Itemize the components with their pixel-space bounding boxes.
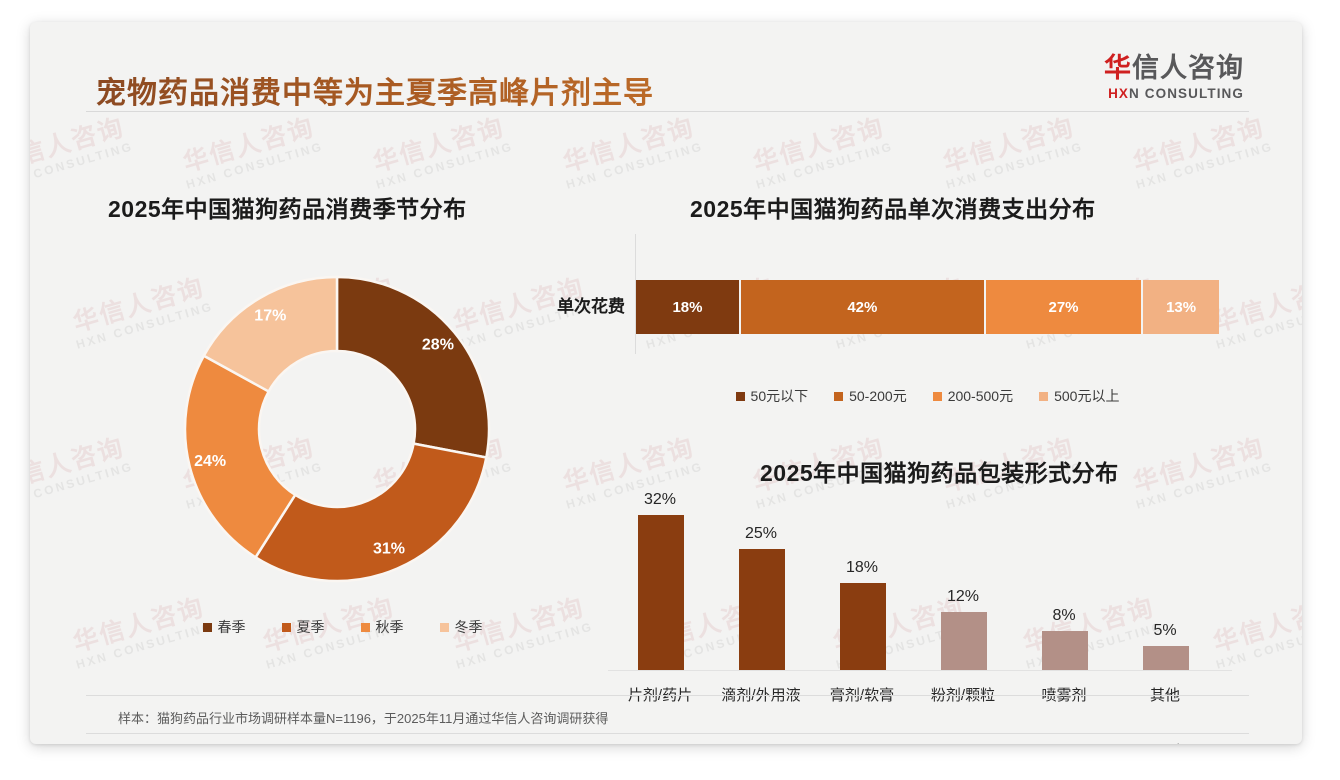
package-form-chart: 32%片剂/药片25%滴剂/外用液18%膏剂/软膏12%粉剂/颗粒8%喷雾剂5%… — [590, 432, 1250, 717]
bar-column: 12%粉剂/颗粒 — [913, 500, 1013, 670]
bar-rect[interactable] — [840, 583, 886, 670]
donut-slice-label: 17% — [254, 307, 286, 324]
footnote-divider — [86, 695, 1249, 696]
bar-value-label: 32% — [610, 491, 710, 509]
legend-swatch-icon — [834, 392, 843, 401]
legend-swatch-icon — [203, 623, 212, 632]
slide-header: 宠物药品消费中等为主夏季高峰片剂主导 华信人咨询 HXN CONSULTING — [30, 22, 1302, 115]
company-logo: 华信人咨询 HXN CONSULTING — [1104, 54, 1244, 101]
package-bar-baseline — [608, 670, 1232, 671]
logo-english-accent: HX — [1108, 86, 1129, 101]
slide-card: 华信人咨询HXN CONSULTING华信人咨询HXN CONSULTING华信… — [30, 22, 1302, 744]
stacked-bar-segment[interactable]: 18% — [636, 280, 741, 334]
donut-legend-item[interactable]: 冬季 — [440, 617, 483, 637]
donut-legend-item[interactable]: 夏季 — [282, 617, 325, 637]
bar-value-label: 5% — [1115, 622, 1215, 640]
stacked-bar-segment-label: 42% — [847, 299, 877, 316]
stacked-bar-legend-item[interactable]: 50元以下 — [736, 386, 809, 406]
spend-stacked-chart: 单次花费 18%42%27%13% 50元以下50-200元200-500元50… — [610, 162, 1250, 412]
donut-slice[interactable] — [256, 444, 487, 581]
bar-column: 32%片剂/药片 — [610, 500, 710, 670]
legend-swatch-icon — [736, 392, 745, 401]
bar-rect[interactable] — [941, 612, 987, 670]
donut-slice-label: 24% — [194, 453, 226, 470]
legend-swatch-icon — [440, 623, 449, 632]
bar-column: 5%其他 — [1115, 500, 1215, 670]
bar-rect[interactable] — [1042, 631, 1088, 670]
season-donut-chart: 28%31%24%17% 春季夏季秋季冬季 — [85, 162, 600, 662]
donut-slice-label: 31% — [373, 540, 405, 557]
donut-legend-label: 冬季 — [455, 617, 483, 637]
donut-legend-item[interactable]: 春季 — [203, 617, 246, 637]
footer-copyright: ©2026.1 HXR华信人咨询 — [86, 741, 231, 744]
stacked-bar-row-label: 单次花费 — [525, 292, 625, 317]
logo-chinese-rest: 信人咨询 — [1132, 53, 1244, 83]
stacked-bar-segment[interactable]: 42% — [741, 280, 986, 334]
header-divider — [86, 111, 1249, 112]
donut-legend-label: 秋季 — [376, 617, 404, 637]
stacked-bar-segment-label: 13% — [1166, 299, 1196, 316]
bar-rect[interactable] — [1143, 646, 1189, 670]
logo-chinese: 华信人咨询 — [1104, 54, 1244, 84]
donut-slice[interactable] — [337, 277, 489, 457]
donut-legend-label: 春季 — [218, 617, 246, 637]
bar-column: 8%喷雾剂 — [1014, 500, 1114, 670]
bar-rect[interactable] — [638, 515, 684, 670]
footer-website: www.hxrcon.com — [1146, 741, 1244, 744]
stacked-bar-segment[interactable]: 13% — [1143, 280, 1219, 334]
donut-legend-label: 夏季 — [297, 617, 325, 637]
package-bar-plot: 32%片剂/药片25%滴剂/外用液18%膏剂/软膏12%粉剂/颗粒8%喷雾剂5%… — [610, 500, 1230, 670]
stacked-bar-legend-label: 500元以上 — [1054, 386, 1119, 406]
donut-legend: 春季夏季秋季冬季 — [85, 617, 600, 637]
page-title: 宠物药品消费中等为主夏季高峰片剂主导 — [96, 68, 654, 112]
legend-swatch-icon — [1039, 392, 1048, 401]
slide-content: 2025年中国猫狗药品消费季节分布 28%31%24%17% 春季夏季秋季冬季 … — [30, 22, 1302, 744]
stacked-bar-segment-label: 18% — [672, 299, 702, 316]
logo-english: HXN CONSULTING — [1104, 86, 1244, 101]
stacked-bar-legend: 50元以下50-200元200-500元500元以上 — [636, 386, 1219, 406]
legend-swatch-icon — [933, 392, 942, 401]
bar-value-label: 12% — [913, 588, 1013, 606]
bar-rect[interactable] — [739, 549, 785, 670]
stacked-bar-legend-item[interactable]: 200-500元 — [933, 386, 1013, 406]
donut-slice-label: 28% — [422, 337, 454, 354]
bar-value-label: 18% — [812, 559, 912, 577]
bar-value-label: 8% — [1014, 607, 1114, 625]
sample-footnote: 样本：猫狗药品行业市场调研样本量N=1196，于2025年11月通过华信人咨询调… — [118, 708, 608, 727]
stacked-bar-segment[interactable]: 27% — [986, 280, 1143, 334]
donut-legend-item[interactable]: 秋季 — [361, 617, 404, 637]
logo-chinese-accent: 华 — [1104, 53, 1132, 83]
stacked-bar-legend-label: 200-500元 — [948, 386, 1013, 406]
bar-value-label: 25% — [711, 525, 811, 543]
stacked-bar-legend-label: 50元以下 — [751, 386, 809, 406]
donut-graphic: 28%31%24%17% — [182, 274, 492, 584]
legend-swatch-icon — [361, 623, 370, 632]
stacked-bar-legend-item[interactable]: 500元以上 — [1039, 386, 1119, 406]
logo-english-rest: N CONSULTING — [1129, 86, 1244, 101]
bar-column: 25%滴剂/外用液 — [711, 500, 811, 670]
legend-swatch-icon — [282, 623, 291, 632]
donut-svg: 28%31%24%17% — [182, 274, 492, 584]
stacked-bar-track: 18%42%27%13% — [636, 280, 1219, 334]
bar-column: 18%膏剂/软膏 — [812, 500, 912, 670]
stacked-bar-legend-label: 50-200元 — [849, 386, 907, 406]
stacked-bar-legend-item[interactable]: 50-200元 — [834, 386, 907, 406]
stacked-bar-segment-label: 27% — [1048, 299, 1078, 316]
footer-divider — [86, 733, 1249, 734]
